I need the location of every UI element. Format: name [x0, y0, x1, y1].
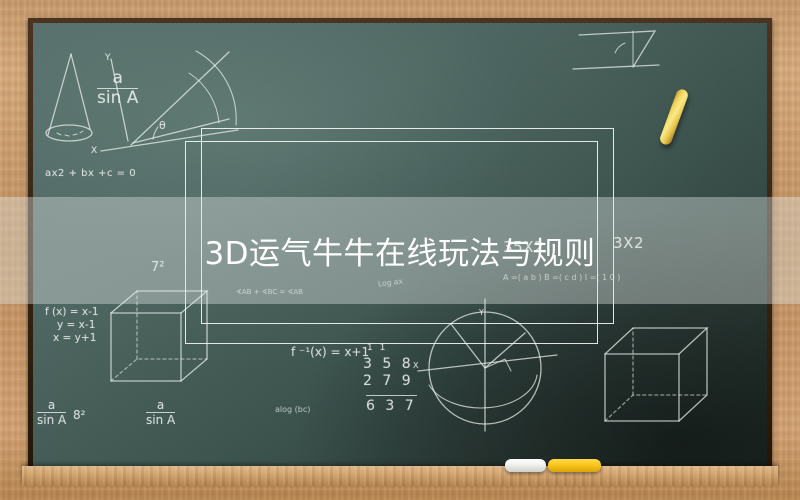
formula-eight-squared: 8² — [73, 408, 85, 422]
addition-result: 6 3 7 — [366, 395, 417, 414]
addition-carry-row: 1 1 — [367, 343, 387, 353]
addition-row-1: 3 5 8 — [363, 356, 414, 372]
sphere-axis-label-x: X — [413, 361, 418, 370]
formula-fx-2: y = x-1 — [57, 319, 95, 331]
page-title: 3D运气牛牛在线玩法与规则 — [0, 197, 800, 304]
yellow-chalk-on-board — [658, 88, 689, 147]
yellow-chalk-on-ledge — [548, 459, 601, 472]
formula-alog: alog (bc) — [275, 405, 310, 414]
addition-row-2: 2 7 9 — [363, 373, 414, 389]
formula-a-over-sinA-mid: a sin A — [146, 399, 175, 427]
sphere-axis-label-y: Y — [479, 308, 484, 317]
white-chalk-on-ledge — [505, 459, 546, 472]
angle-label-theta: θ — [159, 119, 166, 132]
axis-label-y: Y — [105, 53, 111, 63]
formula-inverse-fx: f ⁻¹(x) = x+1 — [291, 345, 369, 359]
formula-a-over-sinA-topleft: a sin A — [97, 70, 138, 108]
screenshot-root: a sin A Y X θ ax2 + bx +c = 0 f (x) = x-… — [0, 0, 800, 500]
formula-fx-3: x = y+1 — [53, 332, 96, 344]
formula-fx-1: f (x) = x-1 — [45, 306, 99, 318]
formula-a-over-sinA-lowerleft: a sin A — [37, 399, 66, 427]
formula-quadratic: ax2 + bx +c = 0 — [45, 168, 136, 179]
axis-label-x: X — [91, 146, 97, 156]
chalk-ledge — [22, 466, 778, 486]
